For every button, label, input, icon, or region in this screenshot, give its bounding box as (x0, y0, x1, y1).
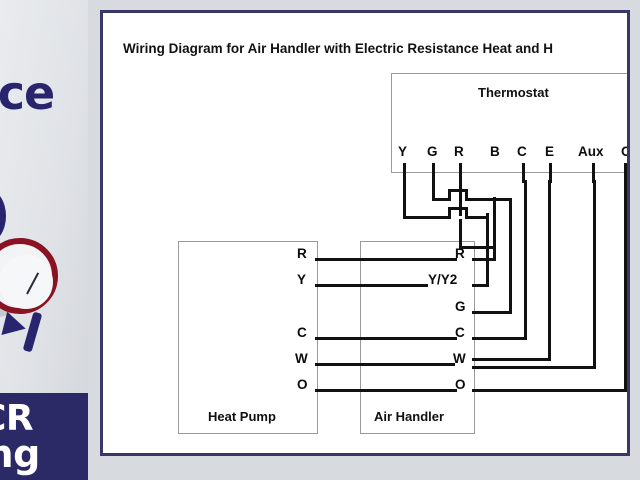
bus-Y-h2 (465, 216, 489, 219)
lead-ah-W-e-h (472, 358, 551, 361)
wire-hp-ah-R (315, 258, 457, 261)
diagram-clip-area: Wiring Diagram for Air Handler with Elec… (103, 13, 627, 453)
heat-pump-terminal-W: W (295, 351, 308, 366)
lead-ah-O-h (472, 389, 627, 392)
bus-R-v-bottom (459, 219, 462, 249)
thermostat-terminal-G: G (427, 144, 438, 159)
lead-ah-R-v (493, 197, 496, 260)
thermostat-terminal-R: R (454, 144, 464, 159)
wire-hp-ah-C (315, 337, 457, 340)
heat-pump-terminal-R: R (297, 246, 307, 261)
thermostat-terminal-E: E (545, 144, 554, 159)
lead-ah-W-aux-v (593, 180, 596, 369)
thermostat-terminal-B: B (490, 144, 500, 159)
lead-ah-W-e-v (548, 180, 551, 361)
wire-hp-ah-W (315, 363, 455, 366)
thermostat-terminal-Y: Y (398, 144, 407, 159)
lead-ah-G-v (509, 199, 512, 313)
lead-ah-C-h (472, 337, 527, 340)
heat-pump-terminal-Y: Y (297, 272, 306, 287)
logo-word-secondary: h (0, 108, 2, 162)
bus-G-drop (432, 180, 435, 200)
diagram-title: Wiring Diagram for Air Handler with Elec… (123, 41, 553, 56)
wire-hp-ah-Y (315, 284, 428, 287)
thermostat-terminal-O: O (621, 144, 627, 159)
bus-Y-h1 (403, 216, 451, 219)
manifold-gauge-icon (0, 238, 68, 324)
lead-ah-W-aux-h (472, 366, 596, 369)
thermostat-terminal-C: C (517, 144, 527, 159)
heat-pump-label: Heat Pump (208, 409, 276, 424)
screenshot-root: vice h CR ing Wiring Diagram for Air Han… (0, 0, 640, 480)
air-handler-label: Air Handler (374, 409, 444, 424)
bus-R-h (459, 246, 495, 249)
bus-G-h2 (465, 198, 512, 201)
banner-word-secondary: ing (0, 432, 40, 476)
lead-ah-C-v (524, 180, 527, 340)
lead-ah-G-h (472, 311, 512, 314)
logo-word-primary: vice (0, 66, 54, 120)
diagram-panel: Wiring Diagram for Air Handler with Elec… (100, 10, 630, 456)
lead-ah-O-v (624, 180, 627, 392)
bus-Y-drop (403, 180, 406, 218)
brand-logo-panel: vice h CR ing (0, 0, 88, 480)
air-handler-terminal-Y2: Y/Y2 (428, 272, 457, 287)
gauge-dial-ring (0, 238, 58, 314)
heat-pump-terminal-O: O (297, 377, 308, 392)
bus-R-v-top (459, 180, 462, 216)
thermostat-terminal-Aux: Aux (578, 144, 604, 159)
heat-pump-terminal-C: C (297, 325, 307, 340)
wire-hp-ah-O (315, 389, 457, 392)
air-handler-terminal-G: G (455, 299, 466, 314)
gauge-dial-face (0, 255, 53, 309)
thermostat-label: Thermostat (478, 85, 549, 100)
lead-ah-Y-v (486, 213, 489, 286)
